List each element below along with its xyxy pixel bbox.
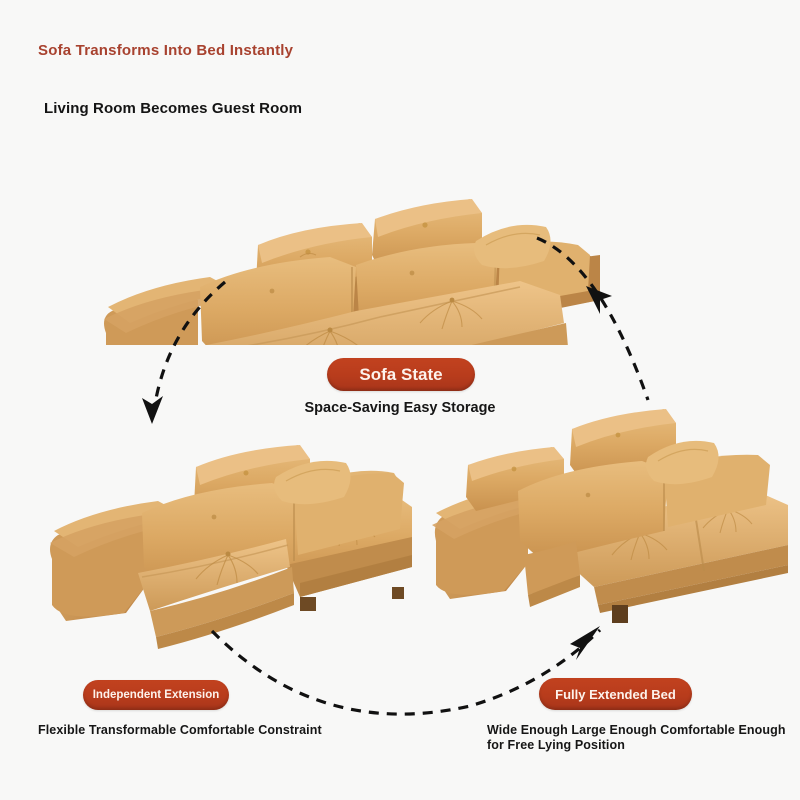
badge-independent-extension-label: Independent Extension — [93, 689, 220, 701]
caption-fully-extended-bed: Wide Enough Large Enough Comfortable Eno… — [487, 723, 787, 753]
caption-independent-extension: Flexible Transformable Comfortable Const… — [38, 723, 338, 738]
badge-sofa-state[interactable]: Sofa State — [327, 358, 475, 391]
arrow-right-to-top — [537, 238, 648, 400]
caption-sofa-state: Space-Saving Easy Storage — [0, 400, 800, 416]
badge-fully-extended-bed[interactable]: Fully Extended Bed — [539, 678, 692, 710]
badge-independent-extension[interactable]: Independent Extension — [83, 680, 229, 710]
badge-sofa-state-label: Sofa State — [359, 365, 442, 385]
badge-fully-extended-bed-label: Fully Extended Bed — [555, 687, 676, 702]
infographic-canvas: Sofa Transforms Into Bed Instantly Livin… — [0, 0, 800, 800]
